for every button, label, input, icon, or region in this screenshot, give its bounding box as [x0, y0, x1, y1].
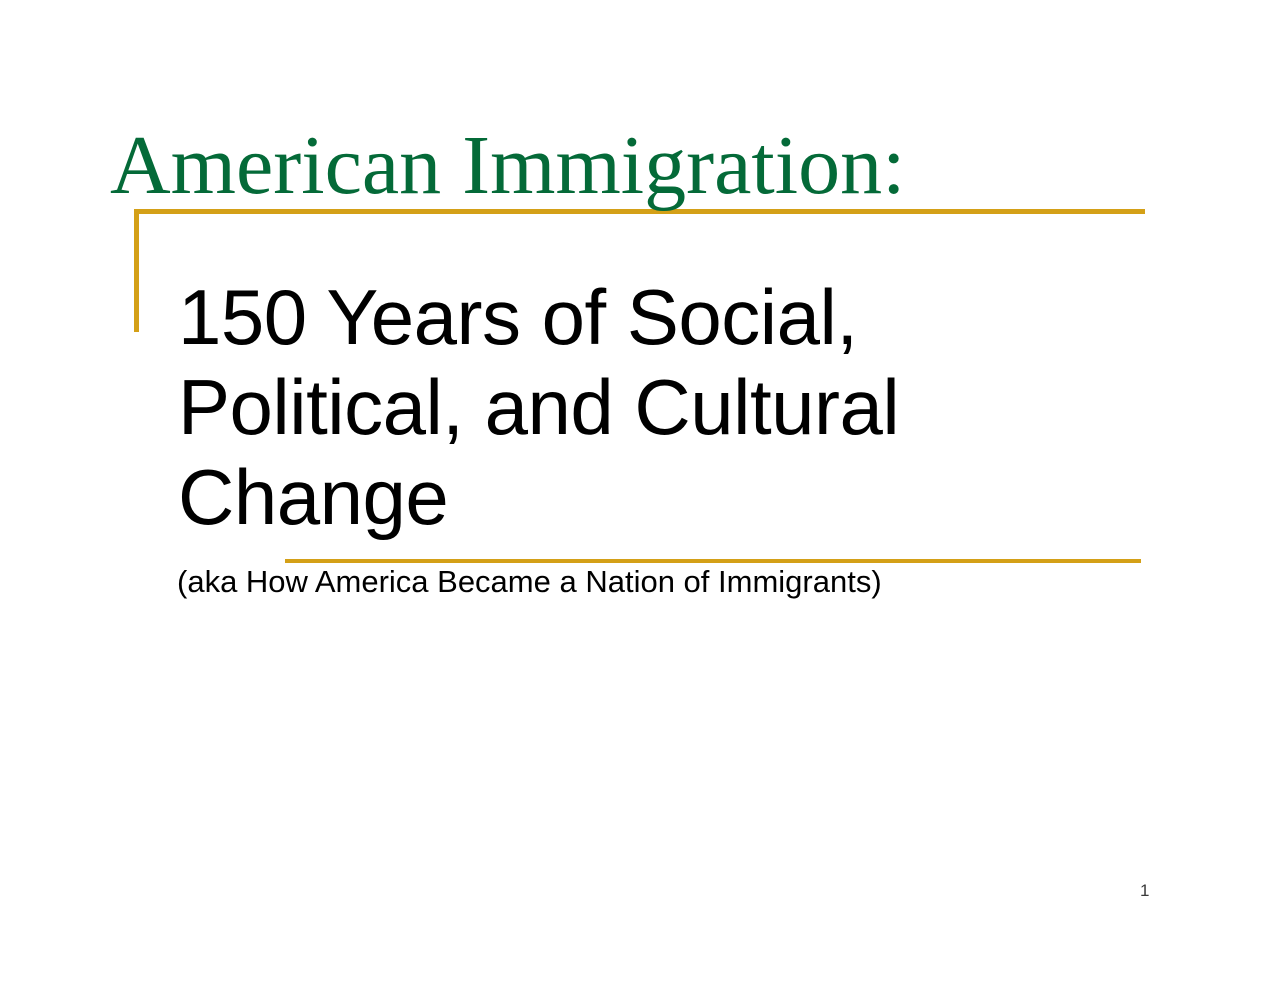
- page-title: American Immigration:: [110, 118, 1150, 214]
- body-line-1: 150 Years of Social,: [178, 272, 1158, 362]
- slide-subtitle: (aka How America Became a Nation of Immi…: [177, 562, 882, 602]
- gold-rule-vertical-divider: [134, 209, 139, 332]
- slide-body-text: 150 Years of Social, Political, and Cult…: [178, 272, 1158, 542]
- page-number: 1: [1140, 881, 1149, 901]
- body-line-2: Political, and Cultural: [178, 362, 1158, 452]
- presentation-slide: American Immigration: 150 Years of Socia…: [0, 0, 1280, 989]
- body-line-3: Change: [178, 452, 1158, 542]
